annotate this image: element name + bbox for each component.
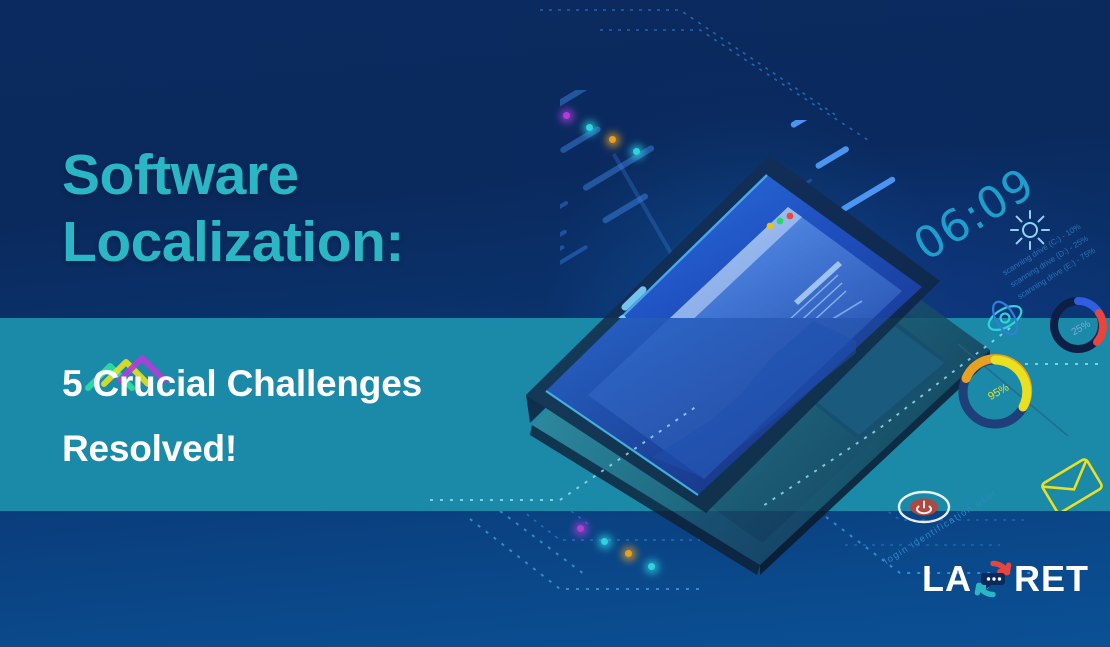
poster-canvas: 95% 25% (0, 0, 1110, 647)
donut-gauge-icon: 95% (962, 350, 1033, 424)
glow-dot (633, 148, 640, 155)
page-subtitle: 5 Crucial Challenges Resolved! (62, 352, 422, 482)
subtitle-line-2: Resolved! (62, 417, 422, 482)
envelope-icon (1041, 458, 1103, 511)
page-title: Software Localization: (62, 142, 404, 277)
glow-dot (609, 136, 616, 143)
glow-dot (563, 112, 570, 119)
brand-logo-suffix: RET (1014, 558, 1089, 600)
refresh-chat-icon (973, 559, 1013, 599)
brand-logo-prefix: LA (922, 558, 972, 600)
title-line-2: Localization: (62, 209, 404, 276)
subtitle-line-1: 5 Crucial Challenges (62, 363, 422, 404)
title-line-1: Software (62, 143, 299, 207)
brand-logo[interactable]: LA RET (922, 558, 1089, 600)
glow-dot (586, 124, 593, 131)
